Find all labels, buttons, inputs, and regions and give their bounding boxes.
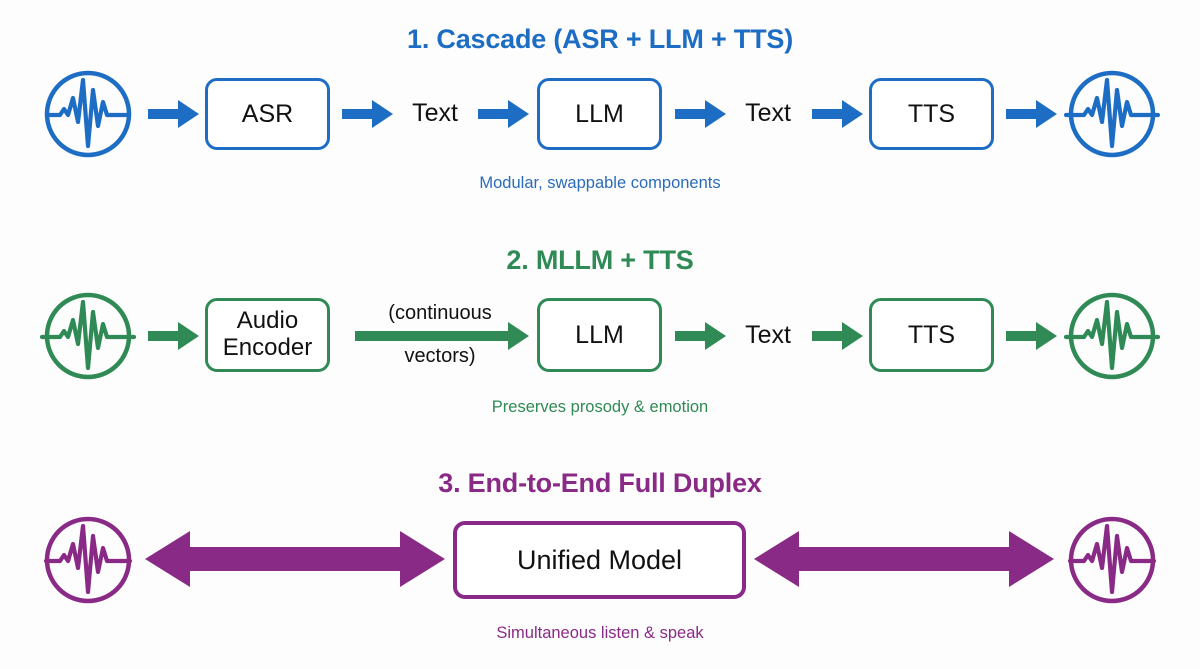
node-asr[interactable]: ASR — [205, 78, 330, 150]
arrow-icon-4-cascade — [675, 98, 727, 130]
audio-waveform-icon-right-cascade — [1064, 68, 1160, 160]
row-title-cascade: 1. Cascade (ASR + LLM + TTS) — [0, 24, 1200, 55]
arrow-icon-6-cascade — [1006, 98, 1058, 130]
node-tts-cascade[interactable]: TTS — [869, 78, 994, 150]
arrow-icon-2-mllm — [675, 320, 727, 352]
arrow-icon-1-mllm — [148, 320, 200, 352]
bidirectional-arrow-icon-right — [754, 528, 1054, 590]
audio-waveform-icon-left-full-duplex — [40, 514, 136, 606]
node-tts-label-mllm: TTS — [908, 321, 955, 349]
arrow-icon-4-mllm — [1006, 320, 1058, 352]
diagram-canvas: 1. Cascade (ASR + LLM + TTS) ASR Text LL… — [0, 0, 1200, 669]
node-unified-model[interactable]: Unified Model — [453, 521, 746, 599]
node-llm-label-cascade: LLM — [575, 100, 624, 128]
node-tts-label-cascade: TTS — [908, 100, 955, 128]
row-title-full-duplex: 3. End-to-End Full Duplex — [0, 468, 1200, 499]
arrow-icon-1-cascade — [148, 98, 200, 130]
arrow-icon-2-cascade — [342, 98, 394, 130]
edge-label-text-1-cascade: Text — [398, 99, 472, 128]
row-caption-full-duplex: Simultaneous listen & speak — [0, 624, 1200, 643]
audio-waveform-icon-left-mllm — [40, 290, 136, 382]
audio-waveform-icon-right-full-duplex — [1064, 514, 1160, 606]
node-llm-mllm[interactable]: LLM — [537, 298, 662, 372]
node-audio-encoder-label-line2: Encoder — [223, 335, 312, 362]
bidirectional-arrow-icon-left — [145, 528, 445, 590]
arrow-icon-5-cascade — [812, 98, 864, 130]
node-llm-cascade[interactable]: LLM — [537, 78, 662, 150]
arrow-icon-3-mllm — [812, 320, 864, 352]
arrow-icon-3-cascade — [478, 98, 530, 130]
node-unified-model-label: Unified Model — [517, 545, 682, 575]
audio-waveform-icon-left-cascade — [40, 68, 136, 160]
edge-label-text-2-cascade: Text — [731, 99, 805, 128]
row-caption-mllm: Preserves prosody & emotion — [0, 398, 1200, 417]
node-tts-mllm[interactable]: TTS — [869, 298, 994, 372]
row-title-mllm: 2. MLLM + TTS — [0, 245, 1200, 276]
node-audio-encoder[interactable]: Audio Encoder — [205, 298, 330, 372]
node-audio-encoder-label-line1: Audio — [237, 308, 298, 335]
node-llm-label-mllm: LLM — [575, 321, 624, 349]
audio-waveform-icon-right-mllm — [1064, 290, 1160, 382]
edge-label-continuous-line2: vectors) — [340, 345, 540, 368]
node-asr-label: ASR — [242, 100, 293, 128]
row-caption-cascade: Modular, swappable components — [0, 174, 1200, 193]
edge-label-text-mllm: Text — [731, 321, 805, 350]
